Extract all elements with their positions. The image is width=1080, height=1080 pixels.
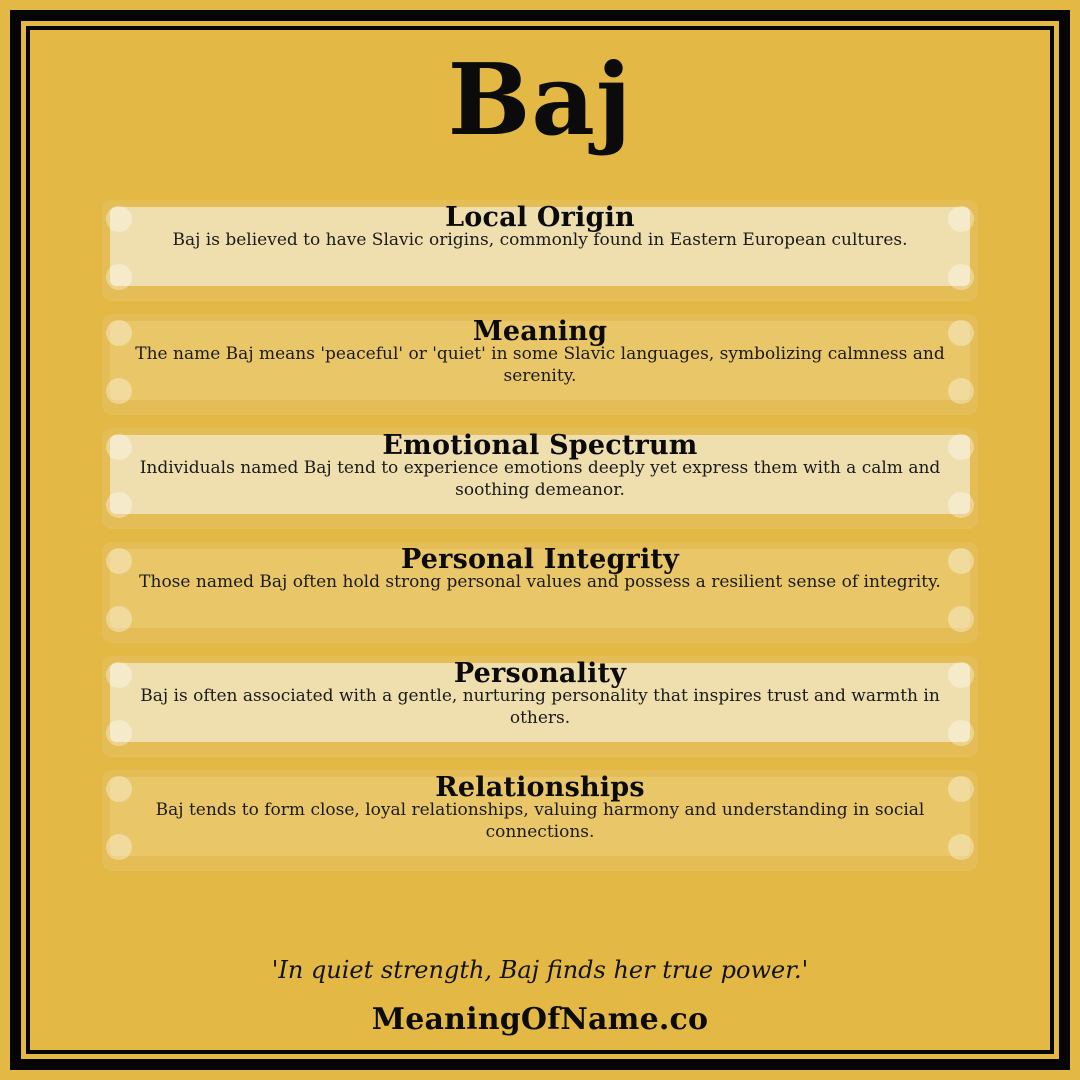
card-5: PersonalityBaj is often associated with … bbox=[102, 656, 978, 756]
outer-frame: Baj Local OriginBaj is believed to have … bbox=[10, 10, 1070, 1070]
footer-quote: 'In quiet strength, Baj finds her true p… bbox=[30, 956, 1050, 984]
card-heading: Meaning bbox=[128, 318, 952, 345]
card-list: Local OriginBaj is believed to have Slav… bbox=[30, 200, 1050, 884]
card-heading: Personal Integrity bbox=[128, 546, 952, 573]
card-content: Personal IntegrityThose named Baj often … bbox=[128, 546, 952, 593]
card-body: Baj tends to form close, loyal relations… bbox=[128, 799, 952, 843]
footer-brand: MeaningOfName.co bbox=[30, 1002, 1050, 1037]
card-content: MeaningThe name Baj means 'peaceful' or … bbox=[128, 318, 952, 387]
card-heading: Relationships bbox=[128, 774, 952, 801]
poster-stage: Baj Local OriginBaj is believed to have … bbox=[30, 30, 1050, 1050]
page-title: Baj bbox=[30, 52, 1050, 150]
card-heading: Personality bbox=[128, 660, 952, 687]
card-content: RelationshipsBaj tends to form close, lo… bbox=[128, 774, 952, 843]
card-body: Individuals named Baj tend to experience… bbox=[128, 457, 952, 501]
card-2: MeaningThe name Baj means 'peaceful' or … bbox=[102, 314, 978, 414]
card-body: The name Baj means 'peaceful' or 'quiet'… bbox=[128, 343, 952, 387]
card-body: Baj is believed to have Slavic origins, … bbox=[128, 229, 952, 251]
card-6: RelationshipsBaj tends to form close, lo… bbox=[102, 770, 978, 870]
card-heading: Local Origin bbox=[128, 204, 952, 231]
card-content: Local OriginBaj is believed to have Slav… bbox=[128, 204, 952, 251]
card-heading: Emotional Spectrum bbox=[128, 432, 952, 459]
card-4: Personal IntegrityThose named Baj often … bbox=[102, 542, 978, 642]
card-body: Those named Baj often hold strong person… bbox=[128, 571, 952, 593]
card-content: PersonalityBaj is often associated with … bbox=[128, 660, 952, 729]
inner-frame: Baj Local OriginBaj is believed to have … bbox=[26, 26, 1054, 1054]
card-3: Emotional SpectrumIndividuals named Baj … bbox=[102, 428, 978, 528]
card-body: Baj is often associated with a gentle, n… bbox=[128, 685, 952, 729]
card-1: Local OriginBaj is believed to have Slav… bbox=[102, 200, 978, 300]
card-content: Emotional SpectrumIndividuals named Baj … bbox=[128, 432, 952, 501]
